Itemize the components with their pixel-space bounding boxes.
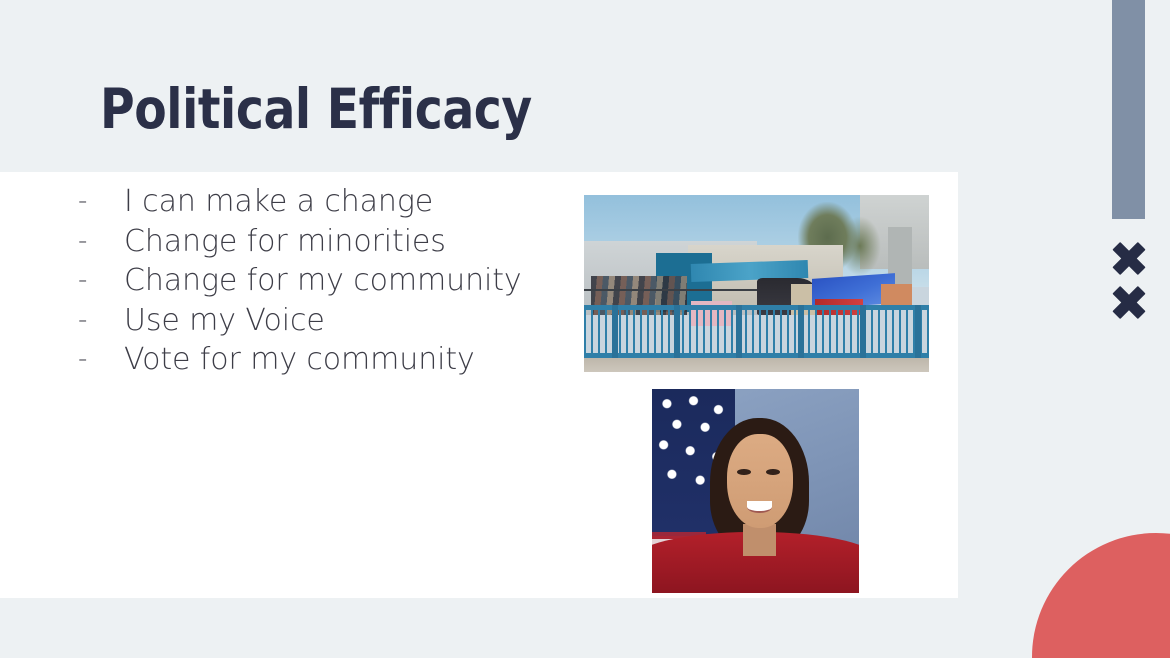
bullet-dash-icon: - (78, 182, 124, 222)
slide: Political Efficacy - I can make a change… (0, 0, 1170, 658)
list-item-label: Use my Voice (124, 301, 548, 341)
x-mark-lower-icon (1106, 284, 1152, 320)
bullet-dash-icon: - (78, 301, 124, 341)
x-marks-decoration (1106, 240, 1154, 326)
title-band: Political Efficacy (0, 0, 1170, 172)
red-circle-decoration (1032, 533, 1170, 658)
bullet-dash-icon: - (78, 261, 124, 301)
x-mark-upper-icon (1106, 240, 1152, 276)
list-item: - Change for my community (78, 261, 548, 301)
page-title: Political Efficacy (100, 78, 532, 140)
list-item-label: Change for my community (124, 261, 548, 301)
bullet-dash-icon: - (78, 340, 124, 380)
congresswoman-portrait-photo: Official portrait of a smiling woman in … (652, 389, 859, 593)
list-item: - I can make a change (78, 182, 548, 222)
bullet-list: - I can make a change - Change for minor… (78, 182, 548, 380)
list-item: - Change for minorities (78, 222, 548, 262)
list-item-label: Vote for my community (124, 340, 548, 380)
list-item-label: Change for minorities (124, 222, 548, 262)
list-item: - Use my Voice (78, 301, 548, 341)
list-item: - Vote for my community (78, 340, 548, 380)
homeless-encampment-photo: Photograph of a homeless encampment behi… (584, 195, 929, 372)
list-item-label: I can make a change (124, 182, 548, 222)
bullet-dash-icon: - (78, 222, 124, 262)
